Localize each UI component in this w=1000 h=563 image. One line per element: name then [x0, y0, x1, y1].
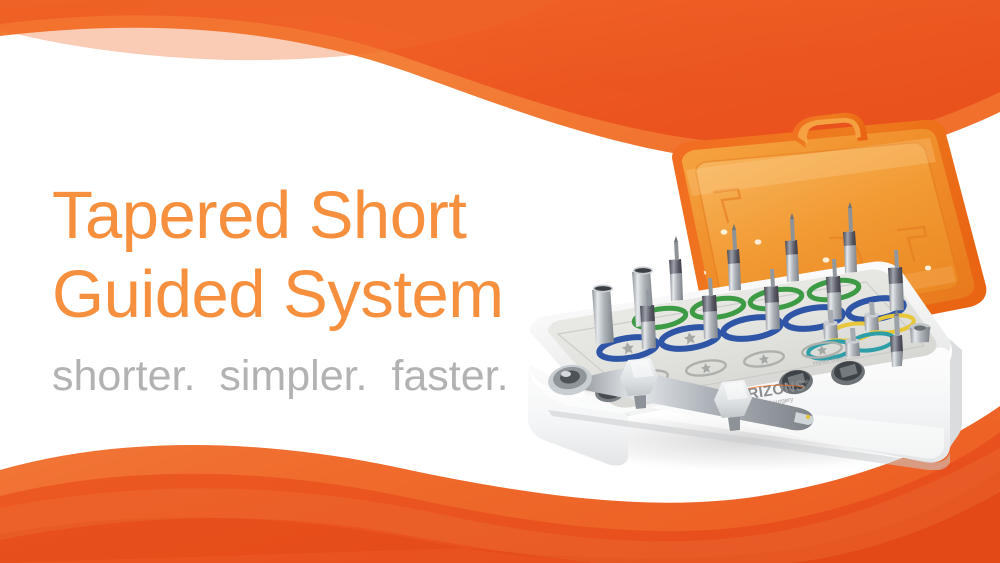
page-title: Tapered Short Guided System	[52, 176, 572, 334]
marketing-slide: Tapered Short Guided System shorter. sim…	[0, 0, 1000, 563]
headline-block: Tapered Short Guided System shorter. sim…	[52, 176, 572, 401]
tagline: shorter. simpler. faster.	[52, 334, 572, 401]
bottom-wave-band-deep	[0, 470, 1000, 563]
top-wave-sheen	[0, 0, 560, 60]
top-wave-shading	[0, 0, 1000, 107]
product-image: BIOHORIZONS tapered short guided surgery	[500, 110, 1000, 470]
